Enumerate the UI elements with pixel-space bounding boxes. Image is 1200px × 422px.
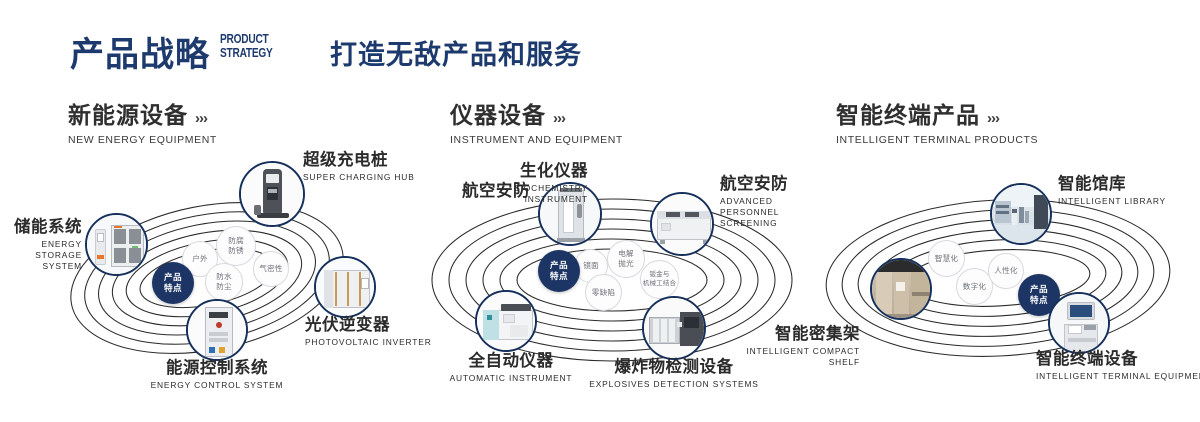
page-title-en-line2: STRATEGY [220, 46, 273, 60]
feature-label: 户外 [192, 254, 208, 264]
core-bubble-product-features: 产品特点 [538, 250, 580, 292]
feature-bubble: 零缺陷 [585, 274, 622, 311]
label-biochemistry-instrument: 生化仪器 BIOCHEMISTRY INSTRUMENT [428, 162, 588, 205]
label-energy-control-system: 能源控制系统 ENERGY CONTROL SYSTEM [88, 359, 346, 391]
label-en: ENERGY CONTROL SYSTEM [88, 380, 346, 391]
label-intelligent-compact-shelf: 智能密集架 INTELLIGENT COMPACT SHELF [732, 325, 860, 368]
label-energy-storage-system: 储能系统 ENERGY STORAGE SYSTEM [0, 218, 82, 272]
node-energy-control-system[interactable] [186, 299, 248, 361]
energy-storage-cabinet-photo [87, 215, 146, 274]
label-en: INTELLIGENT TERMINAL EQUIPMENT [1036, 371, 1200, 382]
section-title-intelligent-terminal: 智能终端产品››› INTELLIGENT TERMINAL PRODUCTS [836, 96, 1038, 146]
node-energy-storage-system[interactable] [85, 213, 148, 276]
label-en: ENERGY STORAGE SYSTEM [0, 239, 82, 272]
section-title-en: INTELLIGENT TERMINAL PRODUCTS [836, 134, 1038, 146]
feature-label: 零缺陷 [592, 288, 615, 298]
label-cn: 能源控制系统 [88, 359, 346, 378]
feature-label: 防腐防锈 [228, 236, 244, 256]
node-photovoltaic-inverter[interactable] [314, 256, 376, 318]
label-intelligent-library: 智能馆库 INTELLIGENT LIBRARY [1058, 175, 1166, 207]
page-slogan: 打造无敌产品和服务 [330, 33, 582, 72]
label-cn: 智能密集架 [732, 325, 860, 344]
node-intelligent-compact-shelf[interactable] [870, 258, 932, 320]
feature-label: 数字化 [963, 282, 986, 292]
node-intelligent-library[interactable] [990, 183, 1052, 245]
feature-bubble: 钣金与机械工结合 [640, 260, 679, 299]
cluster-intelligent-terminal-products: 智慧化 数字化 人性化 产品特点 智能馆库 INTELLIGENT LIBRAR… [800, 150, 1200, 402]
feature-bubble: 电解抛光 [607, 240, 645, 278]
section-title-new-energy: 新能源设备››› NEW ENERGY EQUIPMENT [68, 96, 217, 146]
feature-bubble: 智慧化 [928, 240, 965, 277]
section-title-cn: 仪器设备 [450, 102, 546, 128]
pv-inverter-photo [316, 258, 374, 316]
label-super-charging-hub: 超级充电桩 SUPER CHARGING HUB [303, 151, 415, 183]
label-en: BIOCHEMISTRY INSTRUMENT [428, 183, 588, 205]
feature-bubble: 人性化 [988, 253, 1024, 289]
screening-machine-photo [652, 194, 712, 254]
charging-pile-photo [241, 163, 303, 225]
core-line1: 产品 [1030, 284, 1048, 294]
node-intelligent-terminal-equipment[interactable] [1048, 292, 1110, 354]
chevrons-right-icon: ››› [553, 110, 565, 127]
node-automatic-instrument[interactable] [475, 290, 537, 352]
label-cn: 智能馆库 [1058, 175, 1166, 194]
label-automatic-instrument: 全自动仪器 AUTOMATIC INSTRUMENT [351, 352, 671, 384]
feature-label: 气密性 [259, 264, 282, 274]
core-line1: 产品 [550, 260, 568, 270]
explosive-detector-photo [644, 298, 704, 358]
page-title-en: PRODUCT STRATEGY [220, 32, 273, 60]
feature-bubble: 气密性 [253, 251, 289, 287]
chevrons-right-icon: ››› [195, 110, 207, 127]
section-title-cn: 智能终端产品 [836, 102, 980, 128]
page-title-cn: 产品战略 [70, 27, 210, 76]
section-title-cn: 新能源设备 [68, 102, 188, 128]
core-line1: 产品 [164, 272, 182, 282]
section-title-en: INSTRUMENT AND EQUIPMENT [450, 134, 623, 146]
feature-label: 钣金与机械工结合 [643, 271, 677, 288]
label-cn: 全自动仪器 [351, 352, 671, 371]
label-en: INTELLIGENT LIBRARY [1058, 196, 1166, 207]
section-title-en: NEW ENERGY EQUIPMENT [68, 134, 217, 146]
self-service-kiosk-photo [1050, 294, 1108, 352]
feature-label: 智慧化 [935, 254, 958, 264]
node-super-charging-hub[interactable] [239, 161, 305, 227]
core-bubble-product-features: 产品特点 [152, 262, 194, 304]
page-header: 产品战略 PRODUCT STRATEGY 打造无敌产品和服务 [0, 0, 1200, 88]
label-en: AUTOMATIC INSTRUMENT [351, 373, 671, 384]
label-cn: 储能系统 [0, 218, 82, 237]
feature-bubble: 防腐防锈 [216, 226, 256, 266]
feature-label: 防水防尘 [216, 272, 232, 292]
feature-label: 人性化 [994, 266, 1017, 276]
automatic-analyzer-photo [477, 292, 535, 350]
core-line2: 特点 [164, 283, 182, 293]
core-line2: 特点 [1030, 295, 1048, 305]
feature-bubble: 防水防尘 [205, 263, 243, 301]
feature-label: 电解抛光 [618, 249, 634, 269]
section-title-instrument: 仪器设备››› INSTRUMENT AND EQUIPMENT [450, 96, 623, 146]
page-title-en-line1: PRODUCT [220, 32, 273, 46]
label-cn: 智能终端设备 [1036, 350, 1200, 369]
node-explosives-detection-systems[interactable] [642, 296, 706, 360]
chevrons-right-icon: ››› [987, 110, 999, 127]
control-cabinet-photo [188, 301, 246, 359]
label-intelligent-terminal-equipment: 智能终端设备 INTELLIGENT TERMINAL EQUIPMENT [1036, 350, 1200, 382]
label-en: INTELLIGENT COMPACT SHELF [732, 346, 860, 368]
core-line2: 特点 [550, 271, 568, 281]
compact-shelf-photo [872, 260, 930, 318]
library-interior-photo [992, 185, 1050, 243]
label-cn: 超级充电桩 [303, 151, 415, 170]
label-cn: 生化仪器 [428, 162, 588, 181]
node-advanced-personnel-screening[interactable] [650, 192, 714, 256]
feature-label: 镜面 [583, 261, 599, 271]
